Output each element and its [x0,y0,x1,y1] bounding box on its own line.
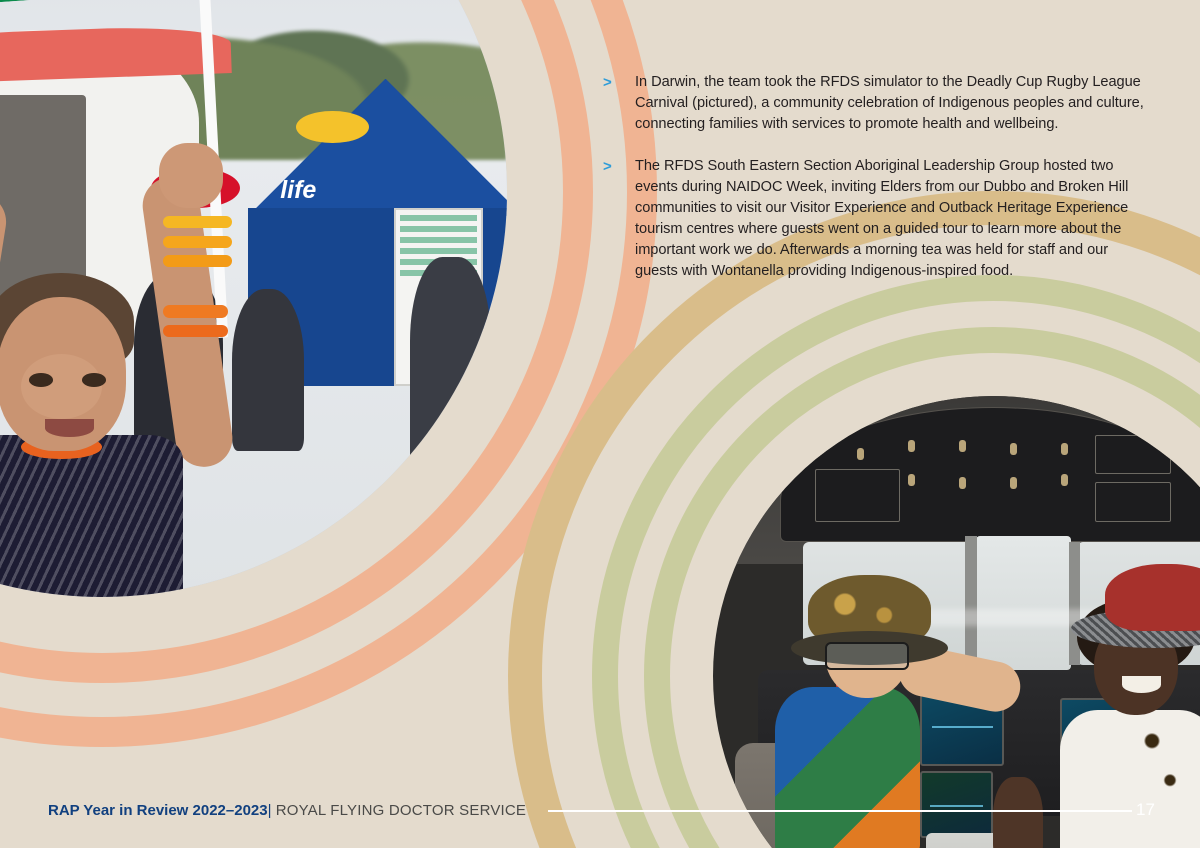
footer-report-title: RAP Year in Review 2022–2023 [48,802,268,819]
wristband [163,305,228,317]
footer-caption: RAP Year in Review 2022–2023| ROYAL FLYI… [48,802,526,819]
visitor-right-smile [1122,676,1161,693]
wristband [163,216,232,228]
footer-divider-line [548,810,1132,812]
wristband [163,236,232,248]
visitor-right-bucket-hat [1105,564,1200,631]
deadly-cup-carnival-photo: ing Docto IGA life [0,0,507,597]
bullet-paragraph: The RFDS South Eastern Section Aborigina… [635,156,1151,282]
cockpit-visitors-photo [713,396,1200,848]
bullet-item: > The RFDS South Eastern Section Aborigi… [603,156,1151,282]
chevron-right-icon: > [603,156,635,177]
page-footer: RAP Year in Review 2022–2023| ROYAL FLYI… [0,788,1200,848]
child-jersey [0,435,183,597]
child-smile [45,419,94,437]
footer-separator: | [268,802,272,819]
crowd-figure [410,257,491,468]
crowd-figure [232,289,305,451]
windshield-post [965,536,977,670]
visitor-left-glasses [825,642,909,670]
wristband [163,325,228,337]
bullet-item: > In Darwin, the team took the RFDS simu… [603,72,1151,135]
chevron-right-icon: > [603,72,635,93]
child-hand-right [159,143,224,208]
bullet-paragraph: In Darwin, the team took the RFDS simula… [635,72,1151,135]
windshield-centre [976,536,1071,670]
page-number: 17 [1136,800,1155,820]
marquee-signage-text: life [280,176,316,205]
footer-organisation: ROYAL FLYING DOCTOR SERVICE [276,802,526,819]
wristband [163,255,232,267]
report-page: ing Docto IGA life [0,0,1200,848]
body-text-column: > In Darwin, the team took the RFDS simu… [603,72,1151,303]
